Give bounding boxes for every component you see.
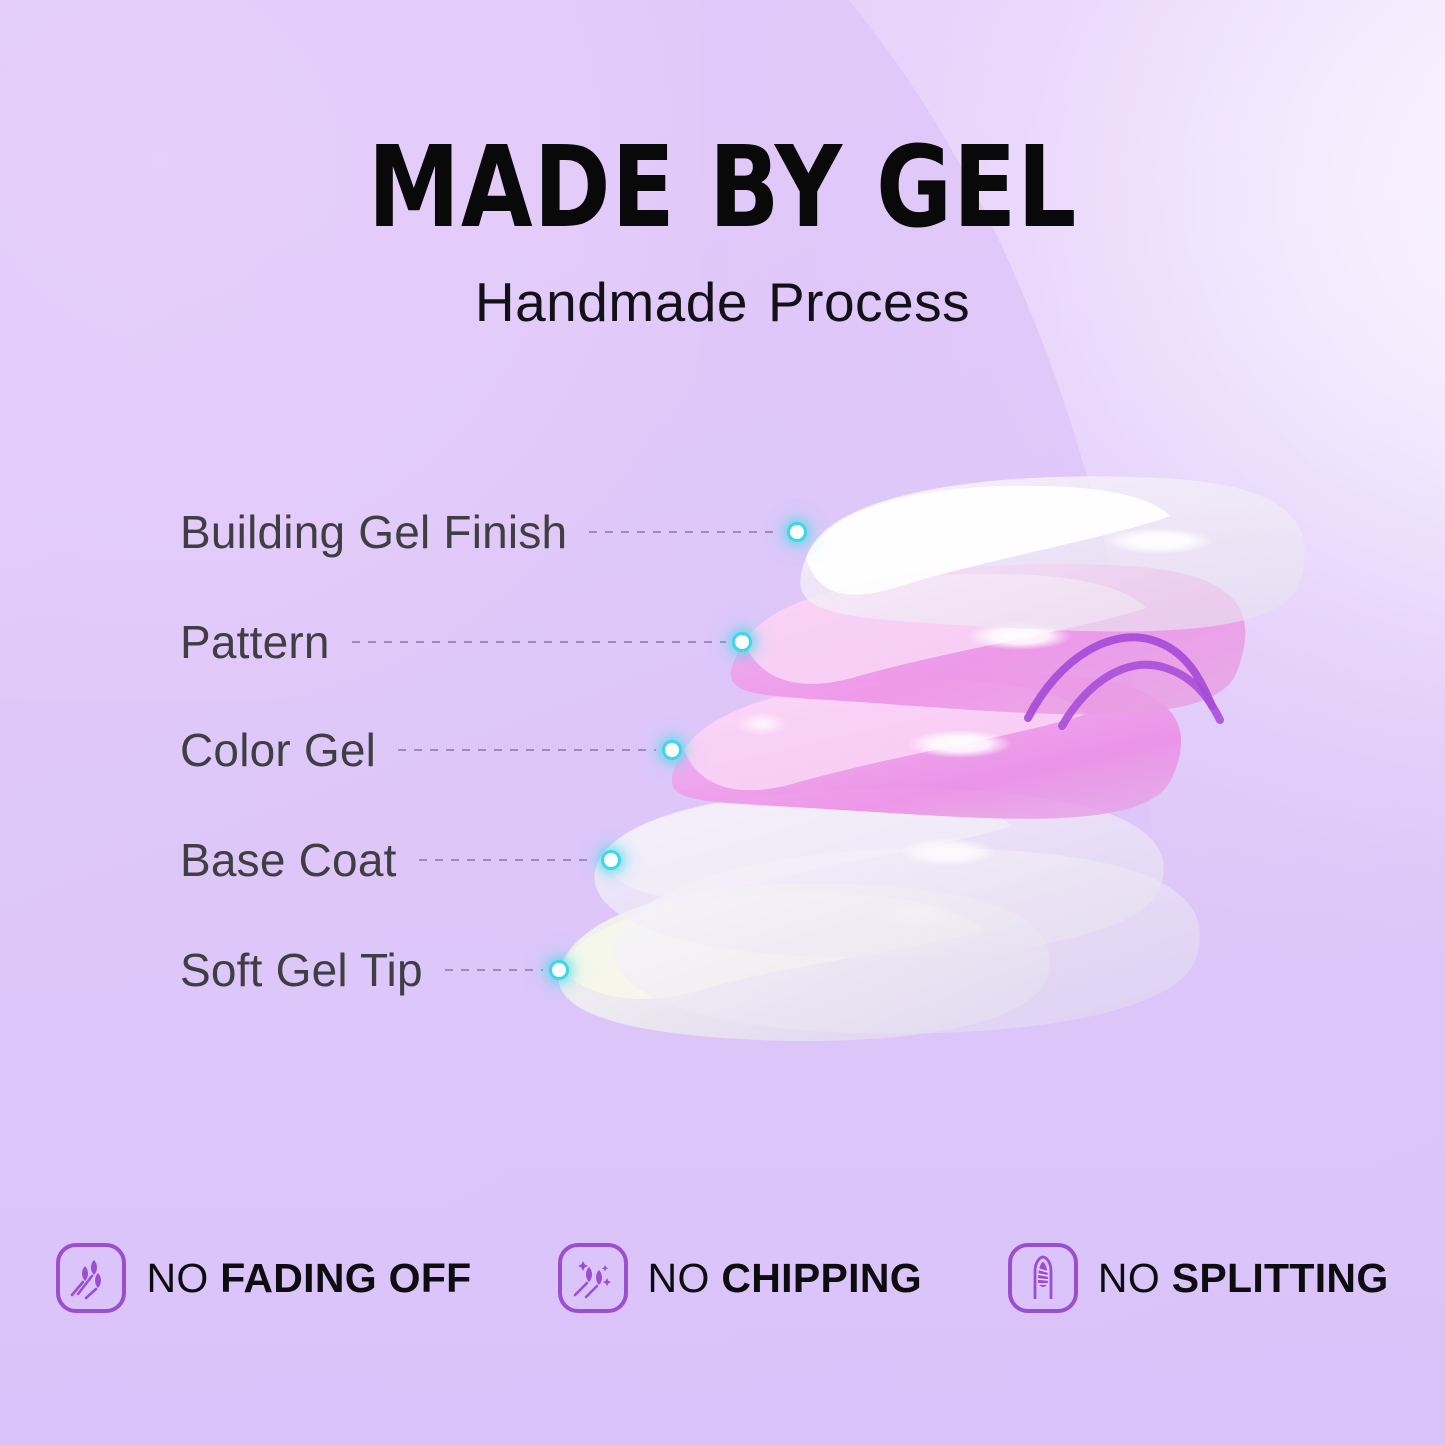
feature-lead-splitting: NO xyxy=(1098,1255,1172,1301)
layer-label-building-gel-finish: Building Gel Finish xyxy=(180,505,567,559)
feature-badge-splitting[interactable]: NO SPLITTING xyxy=(1008,1243,1389,1313)
marker-dot-pattern[interactable] xyxy=(732,632,752,652)
nails-sparkle-icon xyxy=(558,1243,628,1313)
marker-dot-building-gel-finish[interactable] xyxy=(787,522,807,542)
marker-dot-soft-gel-tip[interactable] xyxy=(549,960,569,980)
label-row-pattern: Pattern xyxy=(180,615,752,669)
label-row-building-gel-finish: Building Gel Finish xyxy=(180,505,807,559)
finger-nail-icon xyxy=(1008,1243,1078,1313)
layer-label-pattern: Pattern xyxy=(180,615,330,669)
feature-emph-splitting: SPLITTING xyxy=(1172,1255,1389,1301)
marker-dot-color-gel[interactable] xyxy=(662,740,682,760)
feature-label-chipping: NO CHIPPING xyxy=(648,1255,922,1302)
feature-badge-list: NO FADING OFF xyxy=(0,1243,1445,1313)
feature-emph-fading-off: FADING OFF xyxy=(220,1255,471,1301)
leader-line-color-gel xyxy=(398,749,656,751)
leader-line-building-gel-finish xyxy=(589,531,781,533)
layer-label-list: Building Gel Finish Pattern Color Gel Ba… xyxy=(0,0,1445,1445)
leader-line-soft-gel-tip xyxy=(445,969,543,971)
layer-label-base-coat: Base Coat xyxy=(180,833,397,887)
feature-badge-chipping[interactable]: NO CHIPPING xyxy=(558,1243,922,1313)
feature-label-fading-off: NO FADING OFF xyxy=(146,1255,471,1302)
feature-emph-chipping: CHIPPING xyxy=(721,1255,922,1301)
label-row-base-coat: Base Coat xyxy=(180,833,621,887)
label-row-soft-gel-tip: Soft Gel Tip xyxy=(180,943,569,997)
feature-badge-fading-off[interactable]: NO FADING OFF xyxy=(56,1243,471,1313)
marker-dot-base-coat[interactable] xyxy=(601,850,621,870)
nails-brush-icon xyxy=(56,1243,126,1313)
leader-line-base-coat xyxy=(419,859,595,861)
leader-line-pattern xyxy=(352,641,726,643)
layer-label-color-gel: Color Gel xyxy=(180,723,376,777)
poster-canvas: MADE BY GEL HandmadeProcess xyxy=(0,0,1445,1445)
feature-label-splitting: NO SPLITTING xyxy=(1098,1255,1389,1302)
layer-label-soft-gel-tip: Soft Gel Tip xyxy=(180,943,423,997)
label-row-color-gel: Color Gel xyxy=(180,723,682,777)
feature-lead-fading-off: NO xyxy=(146,1255,220,1301)
feature-lead-chipping: NO xyxy=(648,1255,722,1301)
